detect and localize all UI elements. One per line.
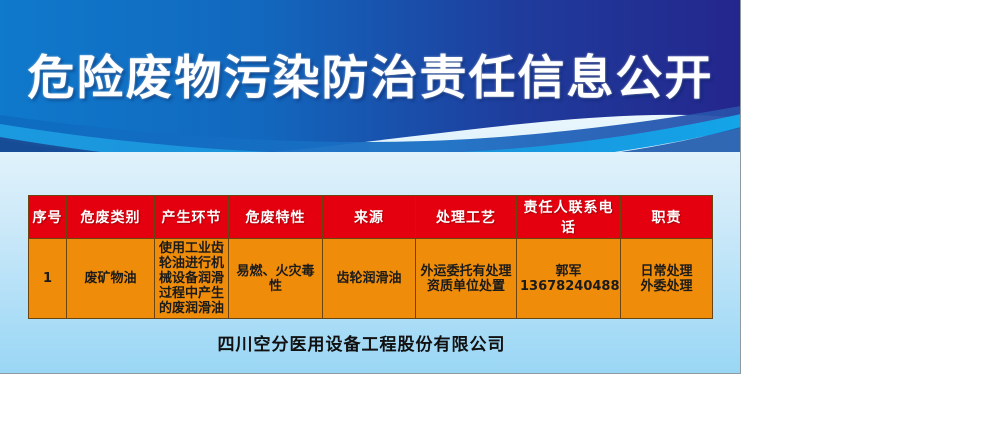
contact-person-phone: 13678240488 — [520, 279, 617, 294]
column-header-process: 处理工艺 — [416, 196, 517, 239]
cell-category: 废矿物油 — [67, 239, 155, 319]
cell-stage: 使用工业齿轮油进行机械设备润滑过程中产生的废润滑油 — [155, 239, 229, 319]
cell-duty: 日常处理 外委处理 — [621, 239, 713, 319]
cell-property: 易燃、火灾毒性 — [229, 239, 323, 319]
column-header-stage: 产生环节 — [155, 196, 229, 239]
duty-line-2: 外委处理 — [624, 279, 709, 294]
cell-process: 外运委托有处理资质单位处置 — [416, 239, 517, 319]
company-name: 四川空分医用设备工程股份有限公司 — [0, 330, 741, 355]
column-header-contact: 责任人联系电话 — [517, 196, 621, 239]
poster-board: 危险废物污染防治责任信息公开 序号 危废类别 产生环节 危废特性 来源 — [0, 0, 741, 374]
duty-line-1: 日常处理 — [624, 264, 709, 279]
cell-contact: 郭军 13678240488 — [517, 239, 621, 319]
hazardous-waste-table: 序号 危废类别 产生环节 危废特性 来源 处理工艺 责任人联系电话 职责 1 废… — [28, 195, 713, 319]
column-header-property: 危废特性 — [229, 196, 323, 239]
column-header-index: 序号 — [29, 196, 67, 239]
table-row: 1 废矿物油 使用工业齿轮油进行机械设备润滑过程中产生的废润滑油 易燃、火灾毒性… — [29, 239, 713, 319]
column-header-category: 危废类别 — [67, 196, 155, 239]
hazardous-waste-table-wrapper: 序号 危废类别 产生环节 危废特性 来源 处理工艺 责任人联系电话 职责 1 废… — [28, 195, 712, 319]
page-title: 危险废物污染防治责任信息公开 — [0, 50, 741, 107]
cell-source: 齿轮润滑油 — [323, 239, 416, 319]
contact-person-name: 郭军 — [520, 264, 617, 279]
column-header-source: 来源 — [323, 196, 416, 239]
cell-index: 1 — [29, 239, 67, 319]
banner-header: 危险废物污染防治责任信息公开 — [0, 0, 741, 152]
table-header-row: 序号 危废类别 产生环节 危废特性 来源 处理工艺 责任人联系电话 职责 — [29, 196, 713, 239]
column-header-duty: 职责 — [621, 196, 713, 239]
